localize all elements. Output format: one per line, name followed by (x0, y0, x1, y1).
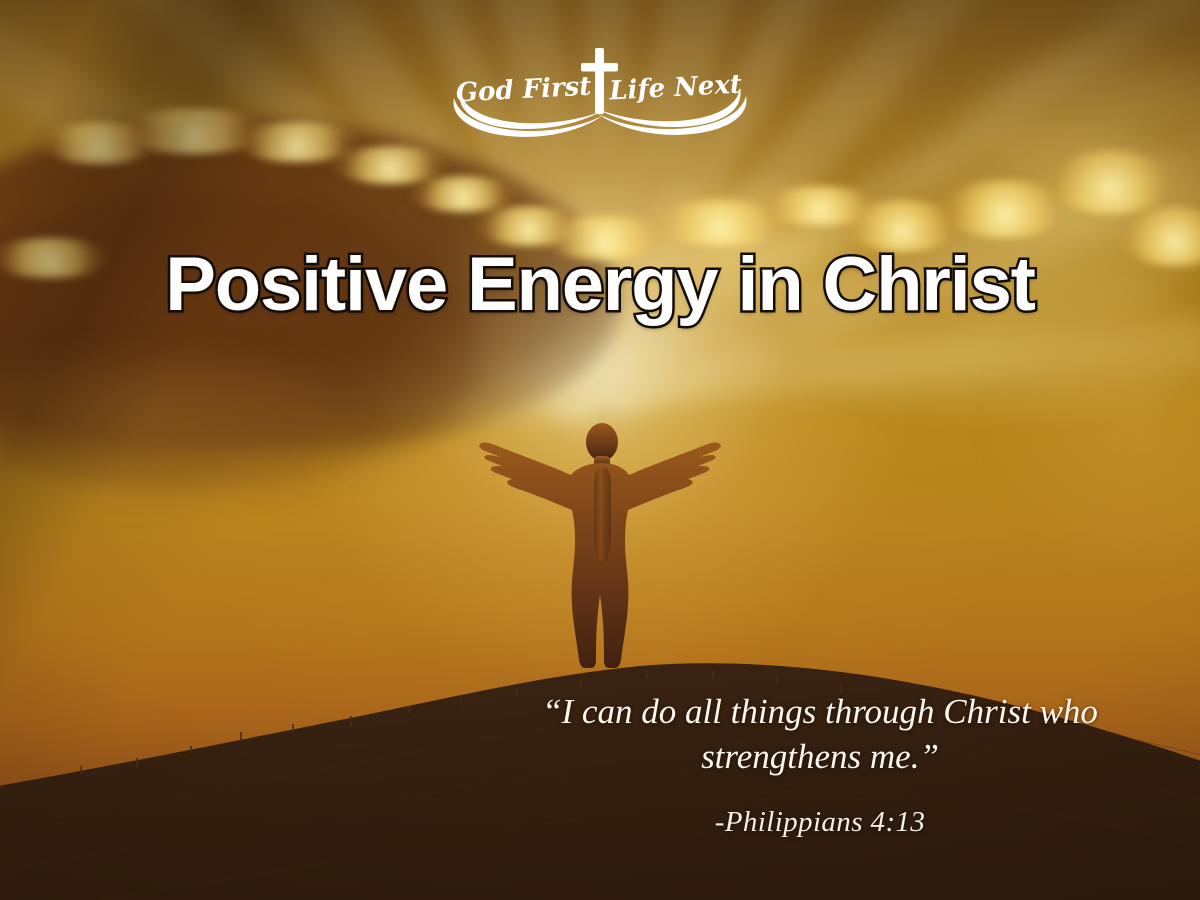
scripture-quote: “I can do all things through Christ who … (470, 690, 1170, 780)
page-title: Positive Energy in Christ (0, 247, 1200, 323)
poster-canvas: God First Life Next Positive Energy in C… (0, 0, 1200, 900)
logo-word-one: God First (455, 71, 592, 108)
god-first-life-next-logo[interactable]: God First Life Next (0, 44, 1200, 142)
scripture-attribution: -Philippians 4:13 (470, 806, 1170, 839)
logo-word-two: Life Next (608, 70, 743, 107)
